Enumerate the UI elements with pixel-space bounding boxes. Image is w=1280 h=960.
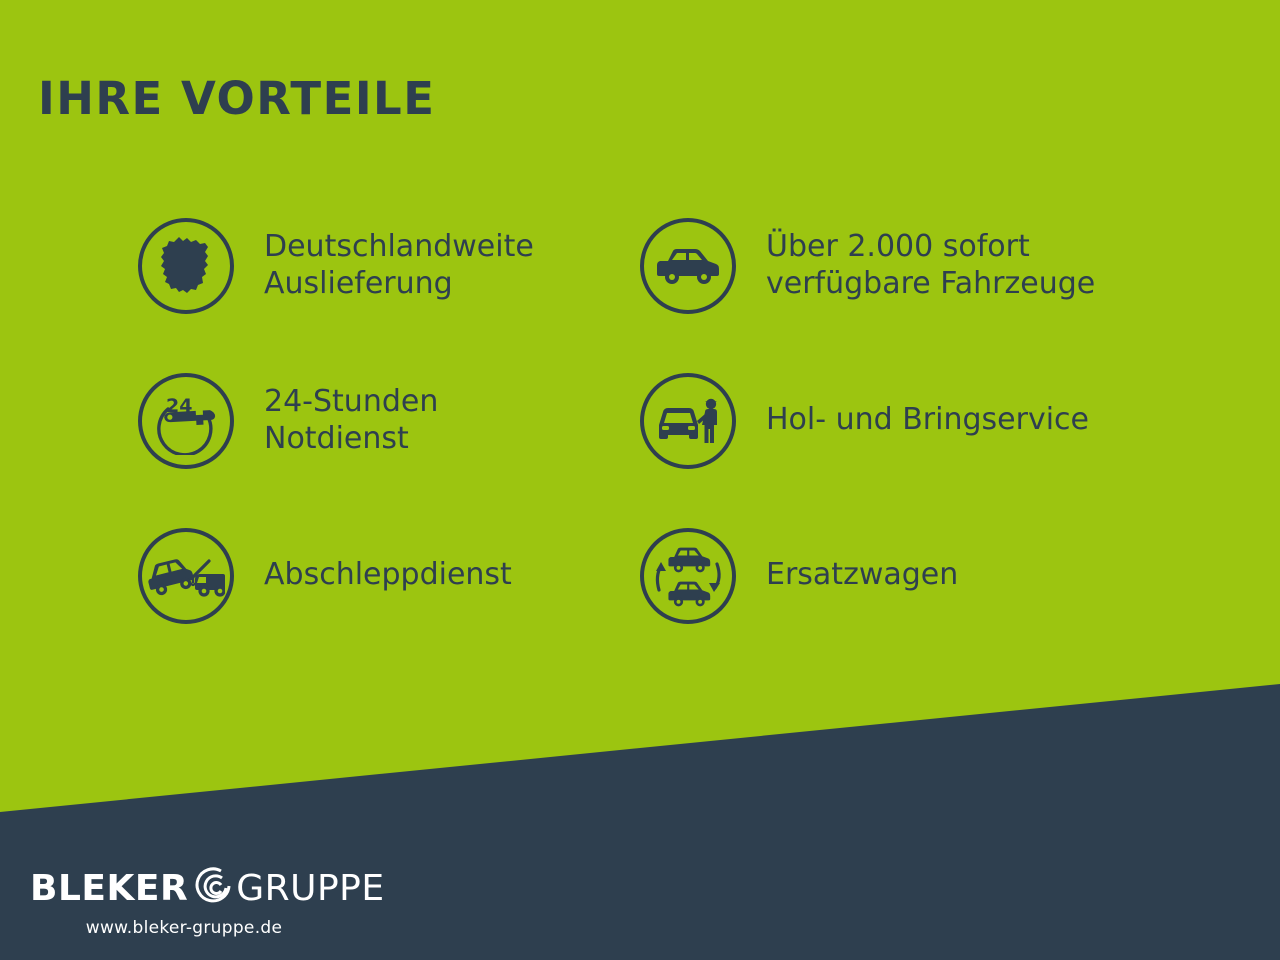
benefit-label: Hol- und Bringservice: [766, 402, 1089, 439]
benefit-item-verfuegbare-fahrzeuge[interactable]: Über 2.000 sofort verfügbare Fahrzeuge: [500, 188, 1140, 343]
spiral-swirl-logo-icon: [191, 864, 237, 914]
slide-canvas: IHRE VORTEILE Deutschlandweite Ausliefer…: [0, 0, 1280, 960]
website-url[interactable]: www.bleker-gruppe.de: [30, 918, 360, 938]
24-hour-wrench-icon: 24: [138, 373, 234, 469]
benefits-grid: Deutschlandweite Auslieferung Über 2.000…: [0, 188, 1280, 653]
benefit-row: 24 24-Stunden Notdienst: [0, 343, 1280, 498]
benefit-row: Abschleppdienst: [0, 498, 1280, 653]
page-title: IHRE VORTEILE: [38, 76, 435, 121]
tow-truck-icon: [138, 528, 234, 624]
benefit-item-abschleppdienst[interactable]: Abschleppdienst: [0, 498, 500, 653]
benefit-label: Über 2.000 sofort verfügbare Fahrzeuge: [766, 229, 1095, 302]
benefit-item-hol-und-bringservice[interactable]: Hol- und Bringservice: [500, 343, 1140, 498]
germany-map-icon: [138, 218, 234, 314]
benefit-row: Deutschlandweite Auslieferung Über 2.000…: [0, 188, 1280, 343]
benefit-item-deutschlandweite-auslieferung[interactable]: Deutschlandweite Auslieferung: [0, 188, 500, 343]
benefit-label: Abschleppdienst: [264, 557, 512, 594]
logo-wordmark-row: BLEKER GRUPPE: [30, 866, 360, 912]
benefit-label: Ersatzwagen: [766, 557, 958, 594]
benefit-item-ersatzwagen[interactable]: Ersatzwagen: [500, 498, 1140, 653]
company-logo[interactable]: BLEKER GRUPPE www.bleker-gruppe.de: [30, 866, 360, 938]
logo-primary-text: BLEKER: [30, 871, 188, 907]
benefit-label: 24-Stunden Notdienst: [264, 384, 438, 457]
logo-secondary-text: GRUPPE: [236, 871, 384, 907]
car-side-icon: [640, 218, 736, 314]
benefit-label: Deutschlandweite Auslieferung: [264, 229, 534, 302]
benefit-item-24-stunden-notdienst[interactable]: 24 24-Stunden Notdienst: [0, 343, 500, 498]
two-cars-exchange-icon: [640, 528, 736, 624]
car-with-person-icon: [640, 373, 736, 469]
